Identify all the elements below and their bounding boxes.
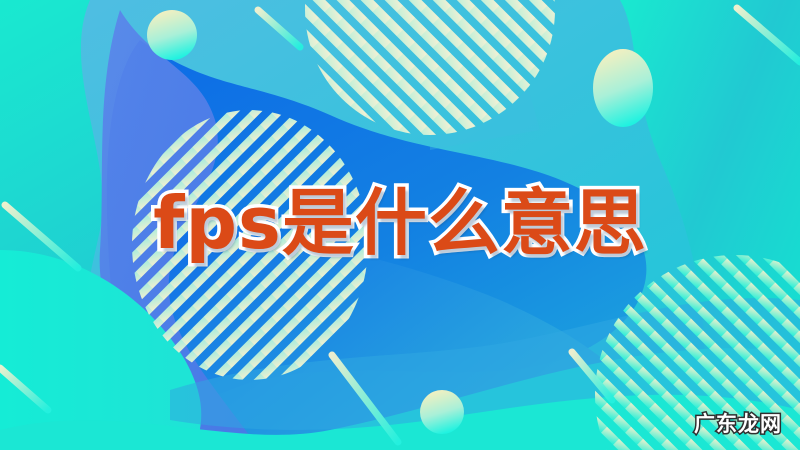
poster-canvas: fps是什么意思 广东龙网	[0, 0, 800, 450]
headline-layer: fps是什么意思	[0, 0, 800, 450]
watermark: 广东龙网	[694, 408, 782, 438]
page-title: fps是什么意思	[153, 187, 647, 259]
